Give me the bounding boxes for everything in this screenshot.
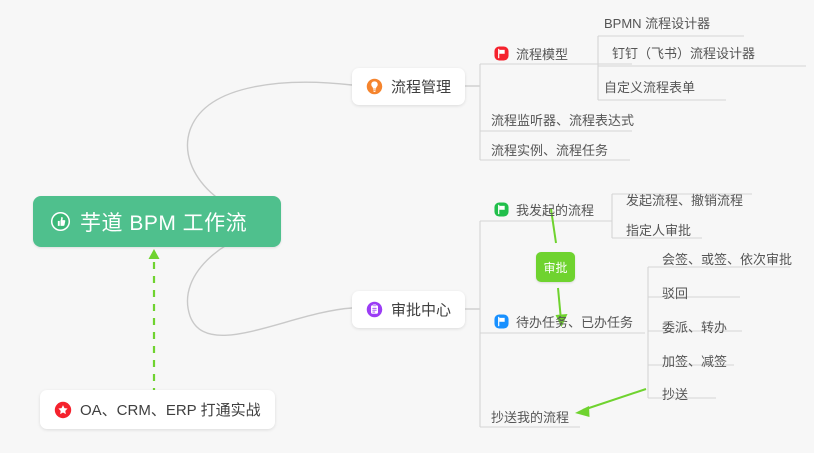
branch-label-process-mgmt: 流程管理 xyxy=(391,76,451,97)
lightbulb-icon xyxy=(366,78,383,95)
flag-icon xyxy=(494,202,509,217)
node-label-process-model: 流程模型 xyxy=(516,44,568,63)
node-process-model[interactable]: 流程模型 xyxy=(494,44,568,63)
floating-node-integration[interactable]: OA、CRM、ERP 打通实战 xyxy=(40,390,275,429)
dashed-arrow-to-root xyxy=(149,249,160,395)
leaf-custom-form[interactable]: 自定义流程表单 xyxy=(604,77,695,96)
leaf-delegate-transfer[interactable]: 委派、转办 xyxy=(662,317,727,336)
annotation-tag-approve-label: 审批 xyxy=(543,259,567,276)
leaf-assignee-approval[interactable]: 指定人审批 xyxy=(626,220,691,239)
clipboard-icon xyxy=(366,301,383,318)
mindmap-canvas: 芋道 BPM 工作流 流程管理 流程模型 BPMN 流程设计器 钉钉（飞书）流程… xyxy=(0,0,814,453)
leaf-countersign[interactable]: 会签、或签、依次审批 xyxy=(662,249,792,268)
root-node[interactable]: 芋道 BPM 工作流 xyxy=(33,196,281,247)
thumbs-up-icon xyxy=(50,211,71,232)
node-label-todo-done-tasks: 待办任务、已办任务 xyxy=(516,312,633,331)
leaf-dingtalk-designer[interactable]: 钉钉（飞书）流程设计器 xyxy=(612,43,755,62)
flag-icon xyxy=(494,314,509,329)
arrow-cc-to-cc-process xyxy=(575,389,646,417)
flag-icon xyxy=(494,46,509,61)
branch-label-approval-center: 审批中心 xyxy=(391,299,451,320)
leaf-instance-task[interactable]: 流程实例、流程任务 xyxy=(491,140,608,159)
leaf-start-cancel-process[interactable]: 发起流程、撤销流程 xyxy=(626,190,743,209)
root-label: 芋道 BPM 工作流 xyxy=(80,207,247,237)
leaf-bpmn-designer[interactable]: BPMN 流程设计器 xyxy=(604,13,710,32)
node-todo-done-tasks[interactable]: 待办任务、已办任务 xyxy=(494,312,633,331)
annotation-tag-approve: 审批 xyxy=(536,252,575,282)
leaf-reject[interactable]: 驳回 xyxy=(662,283,688,302)
node-label-my-started-process: 我发起的流程 xyxy=(516,200,594,219)
floating-node-label: OA、CRM、ERP 打通实战 xyxy=(80,399,261,420)
star-icon xyxy=(54,401,72,419)
node-my-started-process[interactable]: 我发起的流程 xyxy=(494,200,594,219)
branch-node-approval-center[interactable]: 审批中心 xyxy=(352,291,465,328)
leaf-listener-expression[interactable]: 流程监听器、流程表达式 xyxy=(491,110,634,129)
leaf-cc-my-process[interactable]: 抄送我的流程 xyxy=(491,407,569,426)
leaf-cc[interactable]: 抄送 xyxy=(662,384,688,403)
leaf-add-remove-sign[interactable]: 加签、减签 xyxy=(662,351,727,370)
branch-node-process-mgmt[interactable]: 流程管理 xyxy=(352,68,465,105)
